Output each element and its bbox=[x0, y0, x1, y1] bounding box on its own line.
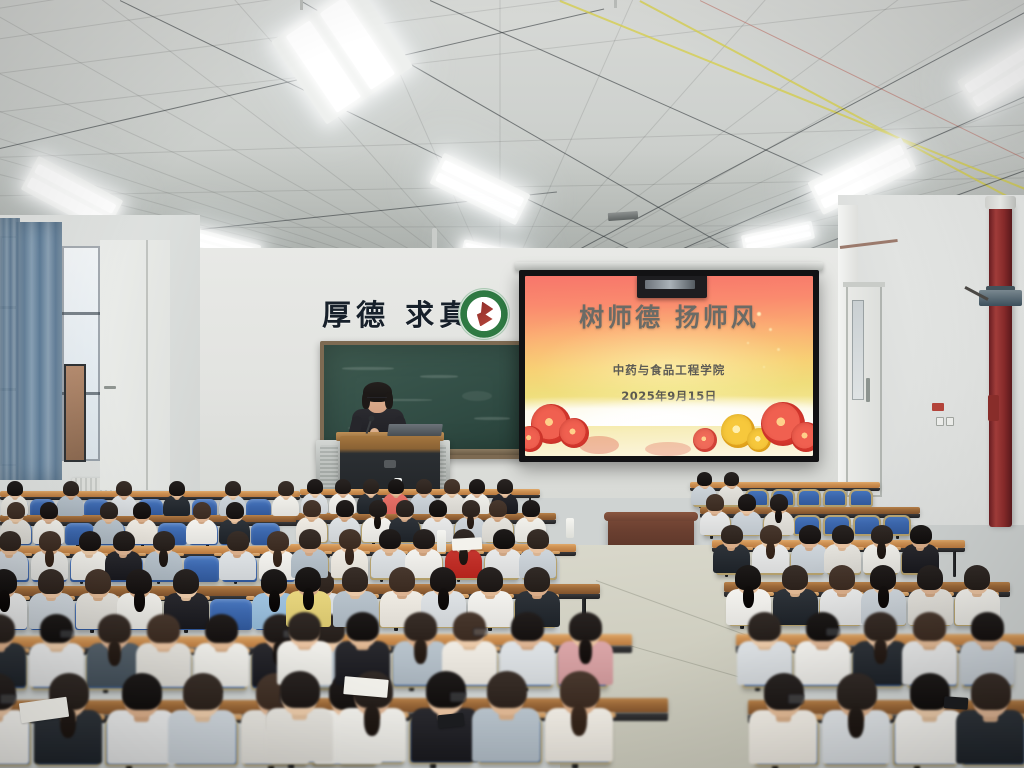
slide-petal-arc-2 bbox=[645, 442, 691, 456]
audience-person-hair bbox=[522, 500, 540, 517]
audience-person-hair bbox=[122, 673, 162, 710]
wall-outlet-2[interactable] bbox=[946, 417, 954, 426]
audience-person-hair bbox=[225, 481, 241, 496]
door-frame-top bbox=[843, 282, 885, 287]
audience-person-hair bbox=[493, 529, 515, 549]
audience-person-glasses-icon bbox=[450, 692, 466, 702]
slide-subtitle: 中药与食品工程学院 bbox=[525, 362, 813, 378]
audience-person-hair bbox=[917, 565, 943, 590]
audience-person-hair bbox=[79, 531, 101, 551]
audience-person-hair bbox=[426, 671, 466, 708]
audience-person-ponytail bbox=[848, 706, 864, 738]
left-door-handle bbox=[104, 386, 116, 389]
audience-person-ponytail bbox=[364, 704, 380, 736]
audience-person-hair bbox=[971, 612, 1004, 641]
audience-person-hair bbox=[335, 479, 351, 494]
audience-person-hair bbox=[183, 673, 223, 710]
audience-person-hair bbox=[864, 612, 897, 641]
right-door-glass bbox=[852, 300, 864, 400]
presenter-glasses-icon bbox=[367, 397, 387, 402]
paper-on-desk-3 bbox=[452, 537, 483, 551]
audience-person-hair bbox=[63, 481, 79, 496]
wall-outlet-1[interactable] bbox=[936, 417, 944, 426]
laptop[interactable] bbox=[387, 424, 443, 436]
audience-person-hair bbox=[39, 531, 61, 551]
lamp-stem-1 bbox=[300, 0, 303, 10]
audience-person-ponytail bbox=[877, 542, 886, 559]
auditorium-seat[interactable] bbox=[823, 489, 847, 507]
audience-person-ponytail bbox=[0, 590, 10, 612]
audience-person-ponytail bbox=[766, 542, 775, 559]
audience-person-ponytail bbox=[374, 515, 381, 529]
audience-person-hair bbox=[227, 531, 249, 551]
audience-person-ponytail bbox=[269, 590, 280, 612]
audience-person-hair bbox=[0, 531, 21, 551]
desk-row bbox=[700, 507, 920, 514]
audience-person-hair bbox=[706, 494, 724, 511]
left-wall-panel bbox=[100, 240, 170, 490]
audience-person-hair bbox=[193, 502, 211, 519]
audience-person-ponytail bbox=[108, 640, 121, 666]
audience-person-glasses-icon bbox=[473, 628, 487, 636]
audience-person-hair bbox=[100, 502, 118, 519]
audience-person-hair bbox=[404, 612, 437, 641]
audience-person-hair bbox=[173, 569, 199, 594]
audience-person-hair bbox=[560, 671, 600, 708]
audience-person-hair bbox=[487, 671, 527, 708]
audience-person-ponytail bbox=[345, 547, 354, 565]
audience-person-hair bbox=[782, 565, 808, 590]
audience-person-hair bbox=[303, 500, 321, 517]
audience-person-hair bbox=[98, 614, 131, 643]
auditorium-seat[interactable] bbox=[797, 489, 821, 507]
slide-title: 树师德 扬师风 bbox=[525, 298, 813, 334]
audience-person-hair bbox=[497, 479, 513, 494]
audience-person-hair bbox=[697, 472, 712, 486]
lamp-stem-2 bbox=[614, 0, 617, 8]
audience-person-ponytail bbox=[878, 586, 889, 608]
audience-person-hair bbox=[363, 479, 379, 494]
slide-flower-red-6 bbox=[791, 422, 813, 452]
audience-person-glasses-icon bbox=[826, 628, 840, 636]
audience-person-ponytail bbox=[303, 588, 314, 610]
audience-person-glasses-icon bbox=[788, 694, 804, 704]
audience-person-hair bbox=[342, 567, 368, 592]
audience-person-ponytail bbox=[438, 588, 449, 610]
audience-person-glasses-icon bbox=[0, 694, 16, 704]
audience-person-ponytail bbox=[159, 549, 168, 567]
lecture-hall-photo: 厚德 求真 树师德 扬师风 中药与食品工程学院 2025年9月15日 bbox=[0, 0, 1024, 768]
audience-person-hair bbox=[40, 614, 73, 643]
audience-person-hair bbox=[267, 531, 289, 551]
audience-person-hair bbox=[738, 494, 756, 511]
projector-over-screen bbox=[637, 276, 707, 298]
audience-person-hair bbox=[205, 614, 238, 643]
audience-person-hair bbox=[569, 612, 602, 641]
audience-person-hair bbox=[724, 472, 739, 486]
phone-on-desk-1[interactable] bbox=[437, 713, 464, 729]
audience-person-hair bbox=[280, 671, 320, 708]
paper-on-desk-2 bbox=[343, 676, 388, 698]
audience-person-hair bbox=[829, 565, 855, 590]
audience-person-hair bbox=[346, 612, 379, 641]
fire-standpipe bbox=[989, 205, 1012, 527]
audience-person-ponytail bbox=[579, 638, 592, 664]
audience-person-hair bbox=[169, 481, 185, 496]
cup-on-desk bbox=[437, 530, 446, 552]
audience-person-hair bbox=[832, 525, 854, 544]
audience-person-hair bbox=[336, 500, 354, 517]
audience-person-hair bbox=[964, 565, 990, 590]
auditorium-seat[interactable] bbox=[849, 489, 873, 507]
stage-platform-top bbox=[604, 512, 698, 521]
slide-petal-arc-1 bbox=[579, 436, 619, 454]
audience-person-hair bbox=[527, 529, 549, 549]
audience-person-hair bbox=[307, 479, 323, 494]
audience-person-hair bbox=[837, 673, 877, 710]
audience-person-hair bbox=[133, 502, 151, 519]
audience-person-hair bbox=[913, 612, 946, 641]
wall-sign-red bbox=[932, 403, 944, 411]
audience-person-hair bbox=[339, 529, 361, 549]
left-wall-seam bbox=[146, 240, 148, 490]
audience-person-hair bbox=[113, 531, 135, 551]
right-door-handle[interactable] bbox=[866, 378, 870, 402]
audience-person-hair bbox=[379, 529, 401, 549]
audience-person-hair bbox=[444, 479, 460, 494]
window-mullion-3 bbox=[62, 312, 100, 315]
audience-person-hair bbox=[278, 481, 294, 496]
audience-person-ponytail bbox=[45, 549, 54, 567]
school-emblem-ring bbox=[458, 288, 510, 340]
cup-on-desk-2 bbox=[566, 518, 574, 538]
phone-on-desk-2[interactable] bbox=[944, 696, 969, 710]
audience-person-hair bbox=[299, 529, 321, 549]
audience-person-hair bbox=[524, 567, 550, 592]
audience-person-hair bbox=[85, 569, 111, 594]
audience-person-hair bbox=[721, 525, 743, 544]
audience-person-glasses-icon bbox=[60, 630, 74, 638]
audience-person-ponytail bbox=[571, 704, 587, 736]
curtain-left-2 bbox=[0, 218, 20, 480]
audience-person-hair bbox=[7, 481, 23, 496]
audience-person-hair bbox=[40, 502, 58, 519]
window-open-sash bbox=[64, 364, 86, 462]
audience-person-hair bbox=[453, 612, 486, 641]
audience-person-hair bbox=[806, 612, 839, 641]
desk-leg bbox=[953, 551, 956, 577]
audience-person-ponytail bbox=[743, 586, 754, 608]
audience-person-hair bbox=[116, 481, 132, 496]
audience-person-hair bbox=[288, 612, 321, 641]
audience-person-hair bbox=[477, 567, 503, 592]
audience-person-hair bbox=[7, 502, 25, 519]
audience-person-hair bbox=[416, 479, 432, 494]
lectern-logo bbox=[384, 460, 396, 468]
audience-person-hair bbox=[799, 525, 821, 544]
audience-person-hair bbox=[511, 612, 544, 641]
audience-person-ponytail bbox=[467, 515, 474, 529]
audience-person-hair bbox=[38, 569, 64, 594]
audience-person-hair bbox=[226, 502, 244, 519]
audience-person-ponytail bbox=[775, 509, 782, 523]
audience-person-hair bbox=[910, 525, 932, 544]
audience-person-hair bbox=[389, 567, 415, 592]
audience-person-ponytail bbox=[874, 638, 887, 664]
audience-person-hair bbox=[429, 500, 447, 517]
audience-person-hair bbox=[147, 614, 180, 643]
audience-person-hair bbox=[469, 479, 485, 494]
audience-person-ponytail bbox=[273, 549, 282, 567]
audience-person-hair bbox=[764, 673, 804, 710]
standpipe-cap bbox=[985, 196, 1016, 209]
audience-person-ponytail bbox=[414, 638, 427, 664]
audience-person-ponytail bbox=[134, 590, 145, 612]
audience-person-hair bbox=[748, 612, 781, 641]
audience-person-hair bbox=[153, 531, 175, 551]
slide-content: 树师德 扬师风 中药与食品工程学院 2025年9月15日 bbox=[525, 276, 813, 456]
curtain-left bbox=[16, 222, 62, 480]
slide-flower-red-4 bbox=[693, 428, 717, 452]
audience-person-hair bbox=[489, 500, 507, 517]
audience-person-hair bbox=[413, 529, 435, 549]
audience-person-hair bbox=[388, 479, 404, 494]
audience-person-hair bbox=[971, 673, 1011, 710]
standpipe-lever bbox=[988, 395, 999, 421]
projection-screen: 树师德 扬师风 中药与食品工程学院 2025年9月15日 bbox=[519, 270, 819, 462]
audience-person-hair bbox=[396, 500, 414, 517]
